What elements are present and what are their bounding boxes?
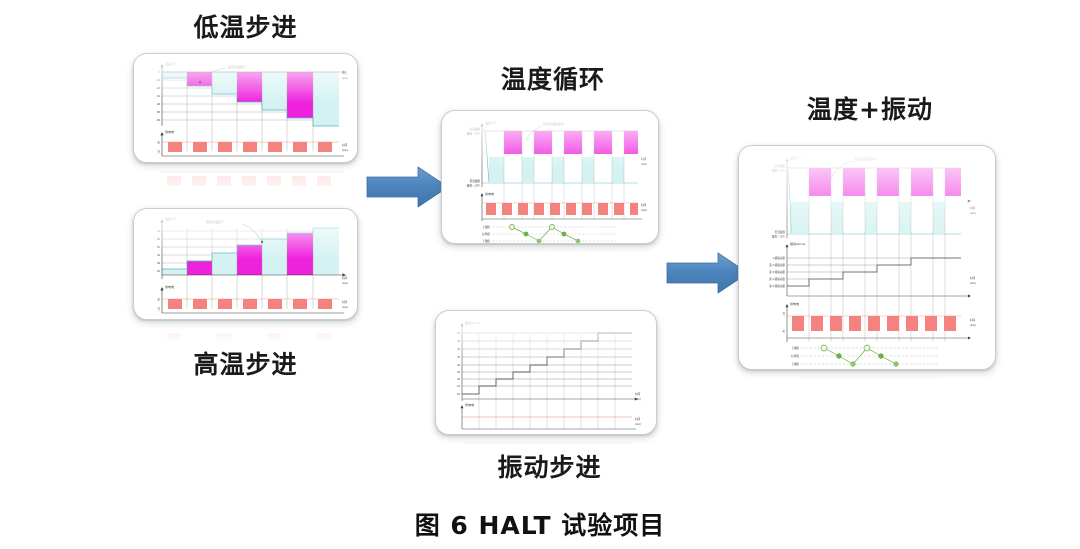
ytick: -60: [156, 118, 160, 122]
axis-right-unit: (min): [342, 281, 348, 285]
axis-right-unit: (min): [970, 323, 976, 327]
chart-card-vibration-step[interactable]: 振动(Grms) 50 45 40 35 30 25 20 15 10: [435, 310, 657, 435]
axis-right-label: 时间: [342, 71, 348, 75]
figure-caption: 图 6 HALT 试验项目: [0, 506, 1080, 542]
card-reflection: [133, 321, 358, 345]
axis-label-temperature: 温度(℃): [165, 216, 176, 221]
high-dwell-blocks: [504, 131, 638, 154]
axis-right-unit: (min): [635, 422, 641, 426]
monitor-row-label: 标准值: [791, 354, 799, 358]
low-dwell-blocks: [791, 202, 945, 234]
axis-right-unit: (min): [641, 162, 647, 166]
vib-level-label: 第 4 级振动量: [769, 277, 785, 281]
annotation-dwell: 规定的温度保持: [855, 156, 876, 161]
axis-right-label: 时间: [970, 276, 976, 280]
panel-title-low-temp-step: 低温步进: [128, 8, 363, 44]
panel-high-temp-step: 70 60 50 40 30 20 温度(℃) 规定的温度下 时间 (min): [128, 200, 363, 390]
ytick: -40: [156, 102, 160, 106]
ytick: 0: [159, 70, 161, 74]
ytick: -50: [156, 110, 160, 114]
axis-right-label: 时间: [635, 417, 641, 421]
vib-level-label: 第 3 级振动量: [769, 270, 785, 274]
axis-label-temperature: 温度(℃): [485, 120, 496, 125]
monitor-row-label: 下限值: [791, 362, 799, 366]
label-high-limit: 高温极限: [470, 127, 481, 131]
ytick: -20: [156, 86, 160, 90]
power-tick: 开: [157, 308, 160, 311]
power-subplot: 供电电 时间: [481, 191, 647, 221]
ytick: 40: [457, 347, 460, 351]
ytick: 20: [157, 269, 160, 273]
monitor-row-label: 上限值: [791, 346, 799, 350]
power-tick: 开: [782, 313, 785, 316]
axis-right-label: 时间: [641, 157, 647, 161]
ytick: 35: [457, 355, 460, 359]
card-reflection: [738, 371, 996, 397]
ytick: 70: [157, 229, 160, 233]
temp-subplot: 温度(℃) 规定的温度保持 高温极限 极限－10℃ 低温极限 极限－10℃ 时间…: [772, 155, 976, 342]
high-dwell-blocks: [809, 168, 961, 196]
low-dwell-blocks: [489, 157, 624, 183]
arrow-right-icon: [367, 167, 448, 207]
axis-label-vibration: 振动(Grms): [465, 320, 480, 325]
chart-card-high-temp-step[interactable]: 70 60 50 40 30 20 温度(℃) 规定的温度下 时间 (min): [133, 208, 358, 320]
power-tick: 关: [782, 329, 785, 333]
power-pulses: [168, 142, 332, 152]
ytick: 50: [457, 331, 460, 335]
axis-label-power: 供电电: [485, 191, 494, 196]
chart-temp-cycle: 温度(℃) 规定的温度保持 高温极限 极限－10℃ 低温极限 极限－10℃ 时间…: [442, 111, 659, 244]
power-pulses: [168, 299, 332, 309]
chart-temp-plus-vibration: 温度(℃) 规定的温度保持 高温极限 极限－10℃ 低温极限 极限－10℃ 时间…: [739, 146, 996, 370]
power-subplot: 供电电 关 开: [157, 129, 348, 156]
panel-title-vibration-step: 振动步进: [432, 448, 667, 484]
axis-right-unit: (min): [970, 211, 976, 215]
panel-title-temp-cycle: 温度循环: [438, 60, 668, 96]
temp-subplot: 0 -10 -20 -30 -40 -50 -60 温度(℃) 规定的温度下: [156, 61, 348, 151]
monitor-subplot: 上限值 标准值 下限值: [482, 224, 617, 243]
axis-right-unit: (min): [641, 208, 647, 212]
power-subplot: 供电电 关 开: [157, 284, 348, 313]
axis-label-temperature: 温度(℃): [790, 155, 801, 160]
chart-card-temp-plus-vibration[interactable]: 温度(℃) 规定的温度保持 高温极限 极限－10℃ 低温极限 极限－10℃ 时间…: [738, 145, 996, 370]
monitor-subplot: 上限值 标准值 下限值: [791, 345, 939, 367]
ytick: 25: [457, 370, 460, 374]
ytick: 60: [157, 237, 160, 241]
monitor-row-label: 上限值: [482, 225, 490, 229]
vibration-subplot: 振动(Grms) 50 45 40 35 30 25 20 15 10: [457, 320, 641, 429]
axis-right-label: 时间: [635, 392, 641, 396]
ytick: -30: [156, 94, 160, 98]
ytick: 45: [457, 339, 460, 343]
power-pulses: [486, 203, 638, 215]
axis-right-label: 时间: [342, 143, 348, 147]
axis-right-label: 时间: [342, 300, 348, 304]
annotation-dwell: 规定的温度保持: [543, 121, 564, 126]
vib-level-label: 第 5 级振动量: [769, 284, 785, 288]
chart-vibration-step: 振动(Grms) 50 45 40 35 30 25 20 15 10: [436, 311, 657, 435]
panel-low-temp-step: 低温步进: [128, 8, 363, 198]
axis-label-power: 供电电: [165, 129, 174, 134]
axis-right-label: 时间: [970, 206, 976, 210]
hot-dwell-blocks: [187, 233, 313, 275]
monitor-nodes: [509, 224, 580, 243]
axis-right-label: 时间: [970, 318, 976, 322]
temp-subplot: 70 60 50 40 30 20 温度(℃) 规定的温度下 时间 (min): [157, 216, 348, 309]
chart-card-temp-cycle[interactable]: 温度(℃) 规定的温度保持 高温极限 极限－10℃ 低温极限 极限－10℃ 时间…: [441, 110, 659, 244]
axis-right-unit: (min): [342, 148, 348, 152]
annotation-dwell: 规定的温度下: [228, 64, 246, 69]
ytick: 30: [157, 261, 160, 265]
ytick: 15: [457, 384, 460, 388]
chart-card-low-temp-step[interactable]: 0 -10 -20 -30 -40 -50 -60 温度(℃) 规定的温度下: [133, 53, 358, 163]
label-high-limit-sub: 极限－10℃: [772, 169, 786, 173]
axis-label-power: 供电电: [790, 301, 799, 306]
vib-level-label: 1 级振动量: [772, 256, 785, 260]
axis-right-unit: (min): [635, 397, 641, 401]
label-low-limit-sub: 极限－10℃: [772, 235, 786, 239]
axis-right-unit: (min): [342, 305, 348, 309]
figure-canvas: 低温步进: [0, 0, 1080, 549]
label-low-limit: 低温极限: [470, 179, 481, 183]
card-reflection: [441, 245, 659, 267]
monitor-row-label: 下限值: [482, 239, 490, 243]
ytick: 10: [457, 392, 460, 396]
vib-level-label: 第 2 级振动量: [769, 263, 785, 267]
axis-label-power: 供电电: [165, 284, 174, 289]
ytick: 50: [157, 245, 160, 249]
label-low-limit: 低温极限: [775, 230, 786, 234]
power-subplot: 供电电 时间 (min): [461, 402, 641, 429]
annotation-dwell: 规定的温度下: [206, 219, 224, 224]
label-low-limit-sub: 极限－10℃: [467, 184, 481, 188]
power-tick: 关: [157, 141, 160, 145]
ytick: 20: [457, 377, 460, 381]
monitor-row-label: 标准值: [482, 232, 490, 236]
ytick: 30: [457, 363, 460, 367]
panel-temp-plus-vibration: 温度+振动: [730, 90, 1010, 420]
panel-title-high-temp-step: 高温步进: [128, 345, 363, 381]
panel-vibration-step: 振动(Grms) 50 45 40 35 30 25 20 15 10: [432, 305, 667, 485]
hot-dwell-blocks: [187, 72, 313, 118]
chart-low-temp-step: 0 -10 -20 -30 -40 -50 -60 温度(℃) 规定的温度下: [134, 54, 358, 163]
axis-right-unit: (min): [970, 281, 976, 285]
power-pulses: [792, 316, 956, 331]
axis-label-power: 供电电: [465, 402, 474, 407]
axis-label-temperature: 温度(℃): [165, 61, 176, 66]
panel-temp-cycle: 温度循环: [438, 60, 668, 270]
ytick: -10: [156, 78, 160, 82]
power-subplot: 供电电: [782, 301, 976, 342]
label-high-limit: 高温极限: [775, 164, 786, 168]
panel-title-temp-plus-vibration: 温度+振动: [730, 90, 1010, 126]
axis-right-label: 时间: [641, 203, 647, 207]
axis-label-vibration: 振动(Grms): [790, 241, 805, 246]
axis-right-unit: (min): [342, 76, 348, 80]
power-tick: 关: [157, 298, 160, 302]
axis-right-label: 时间: [342, 276, 348, 280]
ytick: 40: [157, 253, 160, 257]
chart-high-temp-step: 70 60 50 40 30 20 温度(℃) 规定的温度下 时间 (min): [134, 209, 358, 320]
power-tick: 开: [157, 151, 160, 154]
label-high-limit-sub: 极限－10℃: [467, 132, 481, 136]
